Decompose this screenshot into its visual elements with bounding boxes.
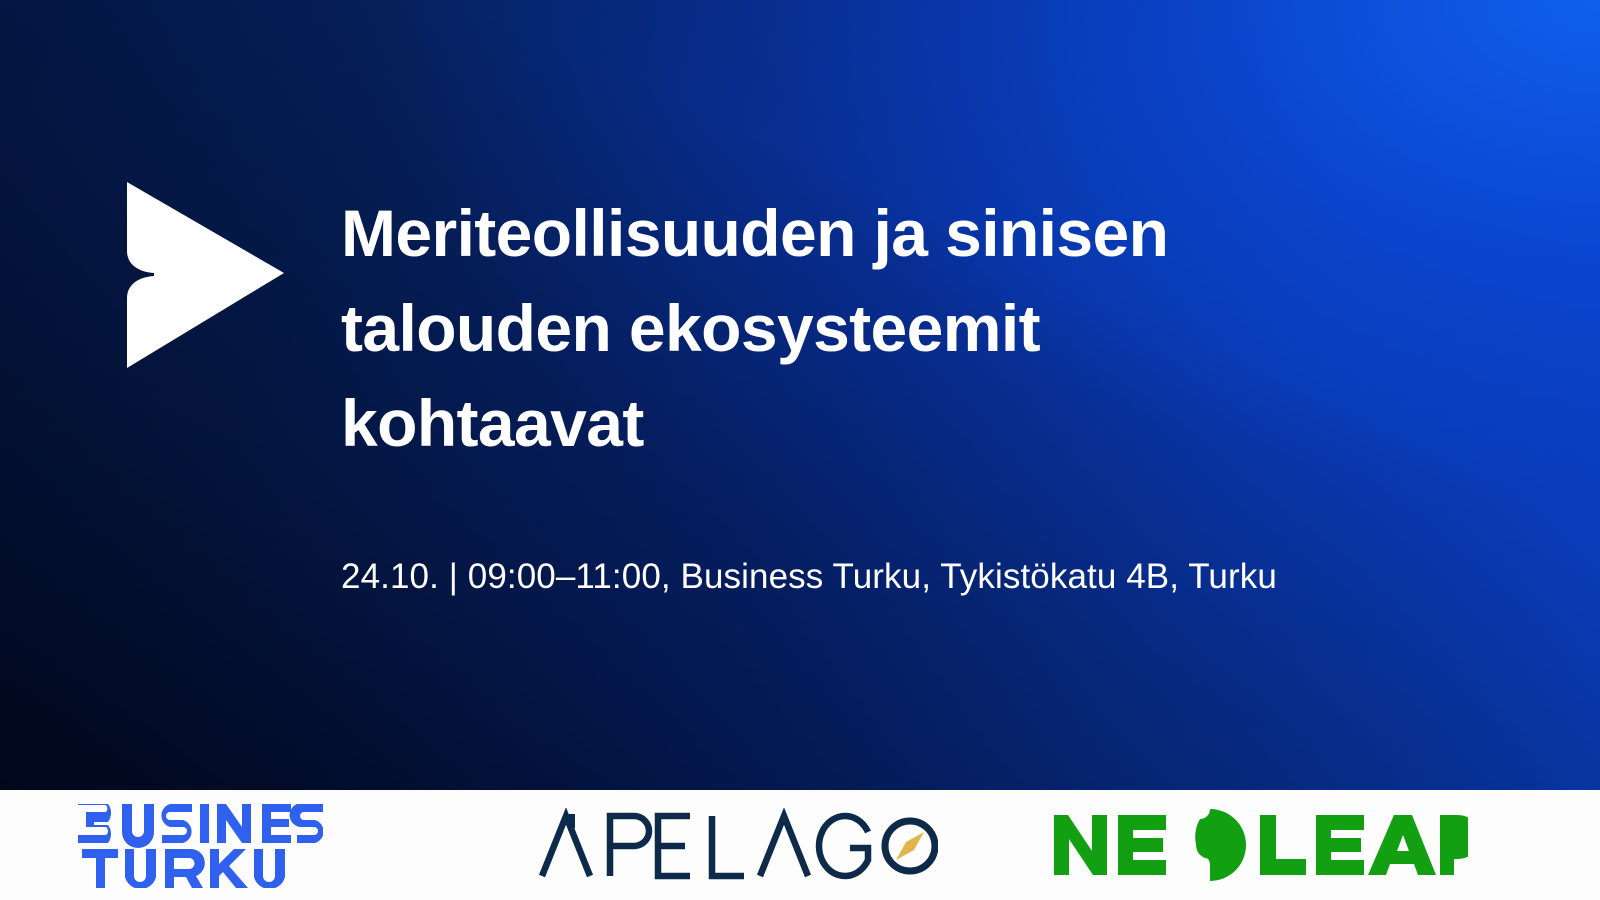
logo-neoleap — [1040, 790, 1600, 900]
page-title: Meriteollisuuden ja sinisen talouden eko… — [341, 186, 1351, 471]
event-text-block: Meriteollisuuden ja sinisen talouden eko… — [341, 186, 1351, 611]
logo-business-turku — [0, 790, 520, 900]
compass-needle — [896, 832, 924, 860]
partner-logo-bar — [0, 790, 1600, 900]
logo-apelago — [520, 790, 1040, 900]
event-poster: Meriteollisuuden ja sinisen talouden eko… — [0, 0, 1600, 900]
event-details: 24.10. | 09:00–11:00, Business Turku, Ty… — [341, 543, 1351, 611]
arrow-mark-icon — [124, 180, 289, 370]
